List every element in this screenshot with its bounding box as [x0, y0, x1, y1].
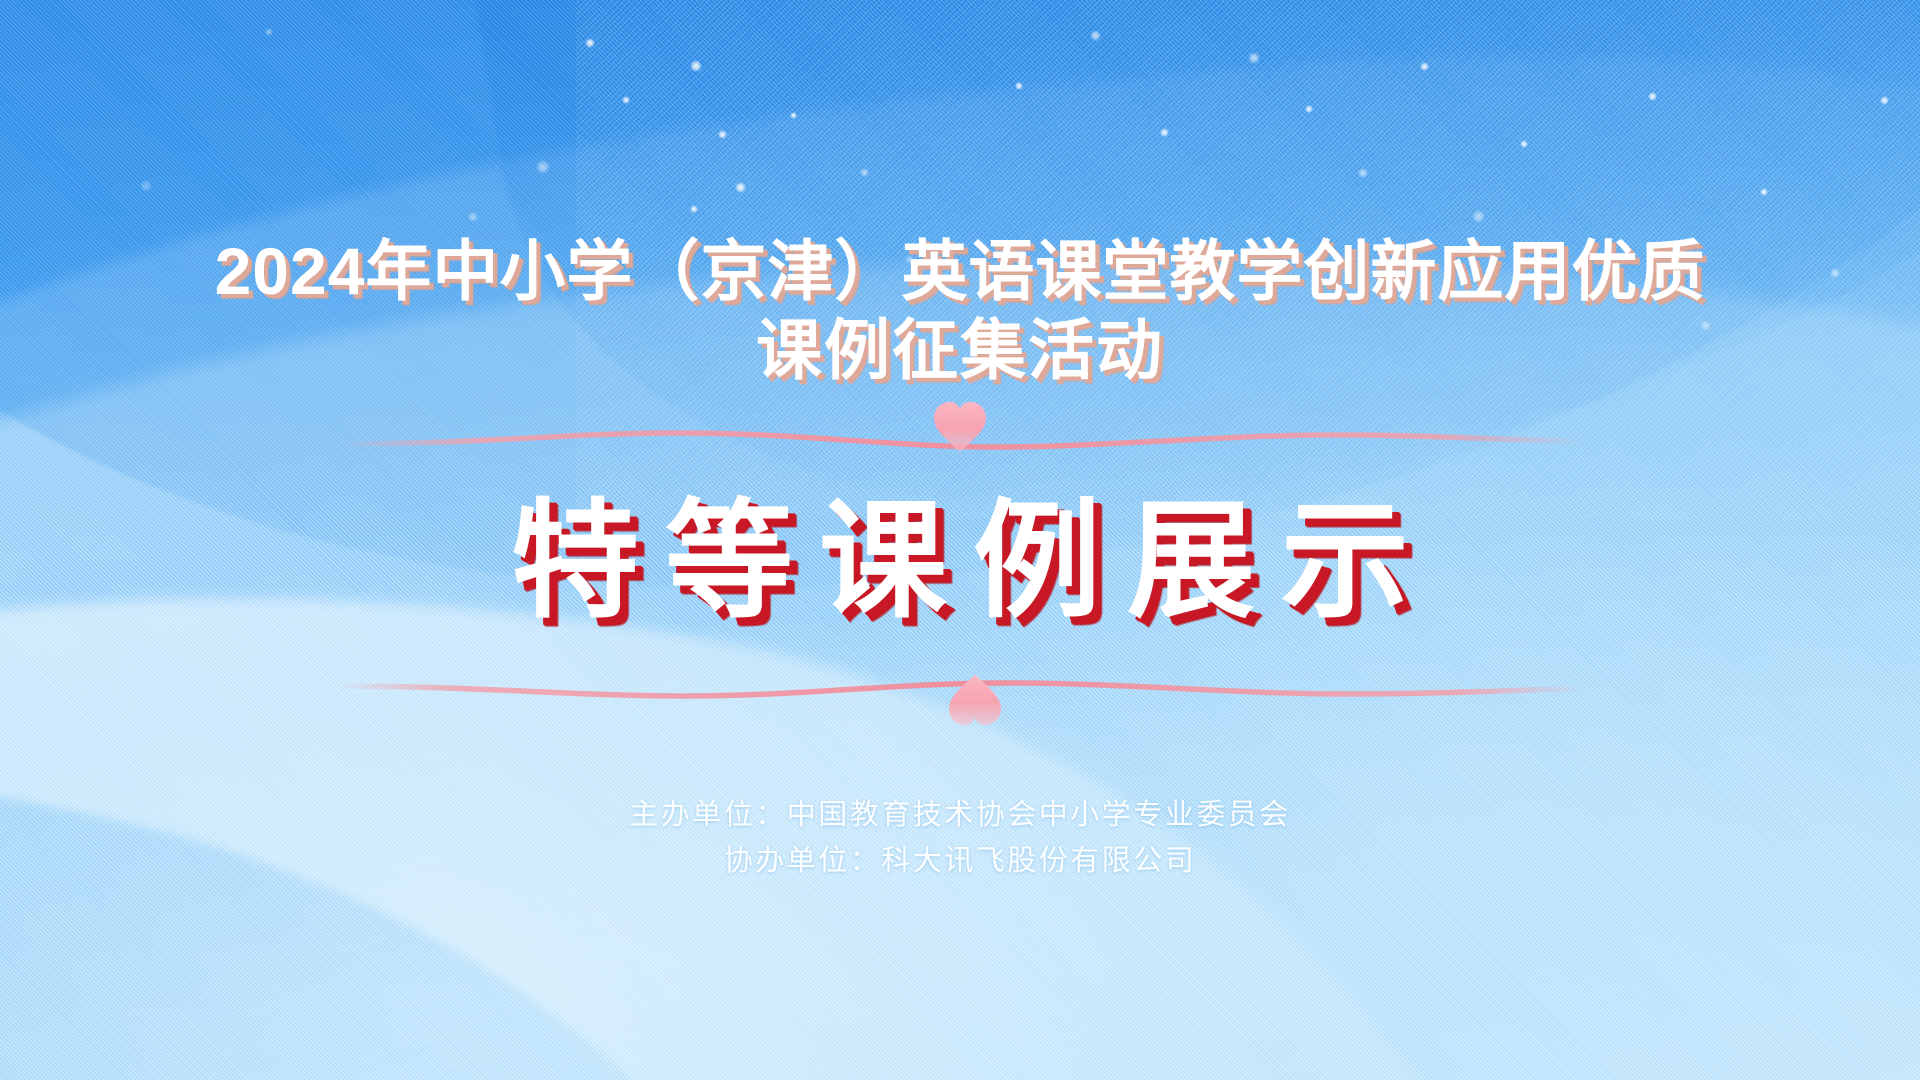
event-title-line-1: 2024年中小学（京津）英语课堂教学创新应用优质 — [110, 232, 1810, 311]
poster-content: 2024年中小学（京津）英语课堂教学创新应用优质 课例征集活动 — [0, 0, 1920, 1080]
event-title: 2024年中小学（京津）英语课堂教学创新应用优质 课例征集活动 — [110, 232, 1810, 390]
organizer-footer: 主办单位：中国教育技术协会中小学专业委员会 协办单位：科大讯飞股份有限公司 — [629, 793, 1291, 885]
headline: 特等课例展示 — [485, 486, 1435, 637]
poster-stage: 2024年中小学（京津）英语课堂教学创新应用优质 课例征集活动 — [0, 0, 1920, 1080]
event-title-line-2: 课例征集活动 — [110, 311, 1810, 390]
divider-top — [335, 408, 1585, 468]
organizer-line: 主办单位：中国教育技术协会中小学专业委员会 — [629, 793, 1291, 839]
co-organizer-line: 协办单位：科大讯飞股份有限公司 — [629, 839, 1291, 885]
divider-bottom — [335, 659, 1585, 719]
